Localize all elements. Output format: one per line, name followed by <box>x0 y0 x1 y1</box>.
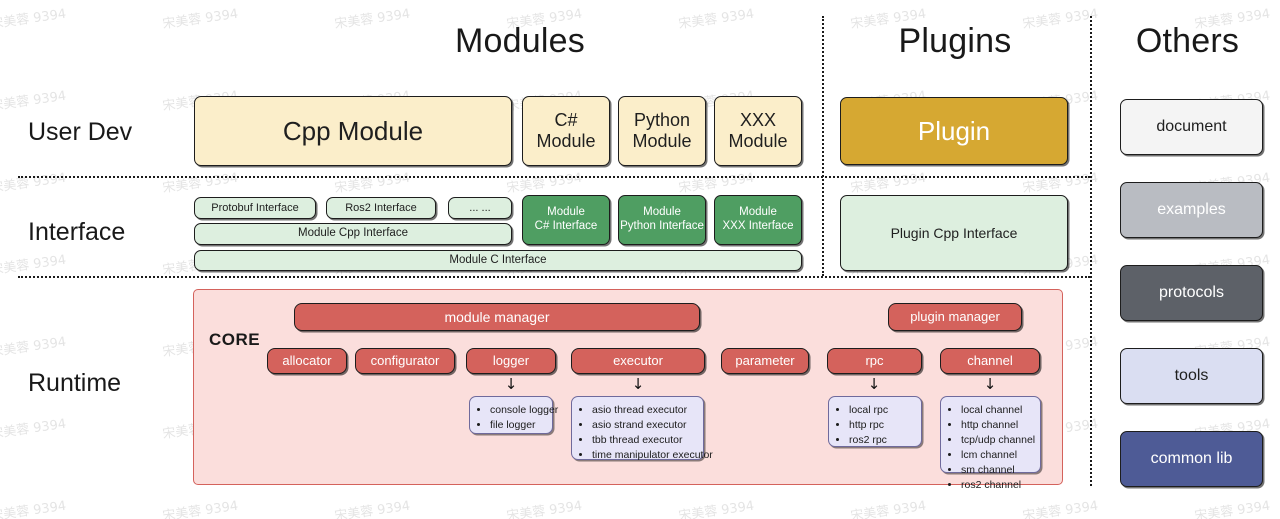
module-xxx-label-1: XXX <box>740 110 776 131</box>
core-allocator[interactable]: allocator <box>267 348 347 374</box>
column-header-plugins: Plugins <box>840 22 1070 61</box>
other-tools-label: tools <box>1175 367 1209 385</box>
other-common-lib[interactable]: common lib <box>1120 431 1263 487</box>
channel-detail-item: lcm channel <box>961 448 1032 463</box>
module-csharp[interactable]: C# Module <box>522 96 610 166</box>
more-interface-label: ... ... <box>469 202 490 215</box>
core-logger-label: logger <box>493 353 529 368</box>
watermark-text: 宋美蓉 9394 <box>677 3 755 32</box>
core-rpc[interactable]: rpc <box>827 348 922 374</box>
module-c-interface[interactable]: Module C Interface <box>194 250 802 271</box>
watermark-text: 宋美蓉 9394 <box>0 495 67 519</box>
watermark-text: 宋美蓉 9394 <box>0 249 67 278</box>
module-xxx-label-2: Module <box>728 131 787 152</box>
watermark-text: 宋美蓉 9394 <box>333 495 411 519</box>
watermark-text: 宋美蓉 9394 <box>333 167 411 196</box>
ros2-interface[interactable]: Ros2 Interface <box>326 197 436 219</box>
core-label: CORE <box>209 330 260 350</box>
arrow-down-rpc-icon: ↓ <box>866 377 882 392</box>
logger-details-list: console logger file logger <box>476 403 544 433</box>
module-cpp-interface[interactable]: Module Cpp Interface <box>194 223 512 245</box>
other-examples[interactable]: examples <box>1120 182 1263 238</box>
core-module-manager-label: module manager <box>444 309 549 326</box>
executor-details-list: asio thread executor asio strand executo… <box>578 403 695 463</box>
channel-detail-item: sm channel <box>961 463 1032 478</box>
module-python-interface-label-1: Module <box>643 206 681 220</box>
watermark-text: 宋美蓉 9394 <box>505 167 583 196</box>
core-configurator[interactable]: configurator <box>355 348 455 374</box>
column-header-others: Others <box>1100 22 1275 61</box>
plugin-cpp-interface-label: Plugin Cpp Interface <box>891 225 1018 242</box>
module-xxx[interactable]: XXX Module <box>714 96 802 166</box>
watermark-text: 宋美蓉 9394 <box>0 331 67 360</box>
other-common-lib-label: common lib <box>1151 450 1233 468</box>
module-csharp-interface[interactable]: Module C# Interface <box>522 195 610 245</box>
arrow-down-executor-icon: ↓ <box>630 377 646 392</box>
protobuf-interface-label: Protobuf Interface <box>211 202 298 215</box>
channel-details-list: local channel http channel tcp/udp chann… <box>947 403 1032 492</box>
architecture-diagram: 宋美蓉 9394宋美蓉 9394宋美蓉 9394宋美蓉 9394宋美蓉 9394… <box>0 0 1280 519</box>
watermark-text: 宋美蓉 9394 <box>161 3 239 32</box>
watermark-text: 宋美蓉 9394 <box>0 3 67 32</box>
other-protocols[interactable]: protocols <box>1120 265 1263 321</box>
rpc-detail-item: local rpc <box>849 403 913 418</box>
core-executor[interactable]: executor <box>571 348 705 374</box>
module-python[interactable]: Python Module <box>618 96 706 166</box>
watermark-text: 宋美蓉 9394 <box>0 167 67 196</box>
core-configurator-label: configurator <box>371 353 440 368</box>
executor-detail-item: asio thread executor <box>592 403 695 418</box>
module-csharp-interface-label-1: Module <box>547 206 585 220</box>
module-csharp-label-1: C# <box>554 110 577 131</box>
logger-details: console logger file logger <box>469 396 553 434</box>
executor-details: asio thread executor asio strand executo… <box>571 396 704 460</box>
watermark-text: 宋美蓉 9394 <box>677 167 755 196</box>
watermark-text: 宋美蓉 9394 <box>0 413 67 442</box>
module-csharp-label-2: Module <box>536 131 595 152</box>
module-csharp-interface-label-2: C# Interface <box>535 220 598 234</box>
module-python-interface[interactable]: Module Python Interface <box>618 195 706 245</box>
watermark-text: 宋美蓉 9394 <box>161 167 239 196</box>
other-document[interactable]: document <box>1120 99 1263 155</box>
other-examples-label: examples <box>1157 201 1225 219</box>
module-python-label-2: Module <box>632 131 691 152</box>
module-cpp[interactable]: Cpp Module <box>194 96 512 166</box>
core-plugin-manager-label: plugin manager <box>910 309 1000 324</box>
channel-detail-item: http channel <box>961 418 1032 433</box>
divider-plugins-others <box>1090 16 1092 486</box>
core-allocator-label: allocator <box>282 353 331 368</box>
channel-detail-item: tcp/udp channel <box>961 433 1032 448</box>
core-channel-label: channel <box>967 353 1013 368</box>
divider-interface-runtime <box>18 276 1090 278</box>
other-tools[interactable]: tools <box>1120 348 1263 404</box>
row-label-runtime: Runtime <box>28 369 121 398</box>
executor-detail-item: asio strand executor <box>592 418 695 433</box>
row-label-user-dev: User Dev <box>28 118 132 147</box>
executor-detail-item: time manipulator executor <box>592 448 695 463</box>
module-python-label-1: Python <box>634 110 690 131</box>
core-executor-label: executor <box>613 353 663 368</box>
module-python-interface-label-2: Python Interface <box>620 220 704 234</box>
module-cpp-interface-label: Module Cpp Interface <box>298 227 408 241</box>
row-label-interface: Interface <box>28 218 125 247</box>
logger-detail-item: console logger <box>490 403 544 418</box>
core-plugin-manager[interactable]: plugin manager <box>888 303 1022 331</box>
watermark-text: 宋美蓉 9394 <box>161 495 239 519</box>
core-module-manager[interactable]: module manager <box>294 303 700 331</box>
divider-modules-plugins <box>822 16 824 276</box>
ros2-interface-label: Ros2 Interface <box>345 202 417 215</box>
watermark-text: 宋美蓉 9394 <box>677 495 755 519</box>
arrow-down-logger-icon: ↓ <box>503 377 519 392</box>
rpc-detail-item: ros2 rpc <box>849 433 913 448</box>
channel-detail-item: local channel <box>961 403 1032 418</box>
watermark-text: 宋美蓉 9394 <box>1193 495 1271 519</box>
core-channel[interactable]: channel <box>940 348 1040 374</box>
watermark-text: 宋美蓉 9394 <box>1021 167 1099 196</box>
core-parameter-label: parameter <box>735 353 794 368</box>
plugin-box[interactable]: Plugin <box>840 97 1068 165</box>
module-cpp-label: Cpp Module <box>283 116 423 147</box>
watermark-text: 宋美蓉 9394 <box>1021 495 1099 519</box>
plugin-label: Plugin <box>918 116 990 147</box>
other-protocols-label: protocols <box>1159 284 1224 302</box>
module-xxx-interface[interactable]: Module XXX Interface <box>714 195 802 245</box>
watermark-text: 宋美蓉 9394 <box>849 167 927 196</box>
divider-user-dev-interface <box>18 176 1090 178</box>
watermark-text: 宋美蓉 9394 <box>0 85 67 114</box>
protobuf-interface[interactable]: Protobuf Interface <box>194 197 316 219</box>
logger-detail-item: file logger <box>490 418 544 433</box>
rpc-details-list: local rpc http rpc ros2 rpc <box>835 403 913 448</box>
plugin-cpp-interface[interactable]: Plugin Cpp Interface <box>840 195 1068 271</box>
core-parameter[interactable]: parameter <box>721 348 809 374</box>
channel-detail-item: ros2 channel <box>961 478 1032 493</box>
core-rpc-label: rpc <box>865 353 883 368</box>
module-c-interface-label: Module C Interface <box>449 254 546 268</box>
arrow-down-channel-icon: ↓ <box>982 377 998 392</box>
rpc-details: local rpc http rpc ros2 rpc <box>828 396 922 447</box>
watermark-text: 宋美蓉 9394 <box>849 495 927 519</box>
executor-detail-item: tbb thread executor <box>592 433 695 448</box>
channel-details: local channel http channel tcp/udp chann… <box>940 396 1041 473</box>
module-xxx-interface-label-1: Module <box>739 206 777 220</box>
rpc-detail-item: http rpc <box>849 418 913 433</box>
module-xxx-interface-label-2: XXX Interface <box>723 220 794 234</box>
more-interface[interactable]: ... ... <box>448 197 512 219</box>
watermark-text: 宋美蓉 9394 <box>505 495 583 519</box>
core-logger[interactable]: logger <box>466 348 556 374</box>
column-header-modules: Modules <box>380 22 660 61</box>
other-document-label: document <box>1156 118 1226 136</box>
